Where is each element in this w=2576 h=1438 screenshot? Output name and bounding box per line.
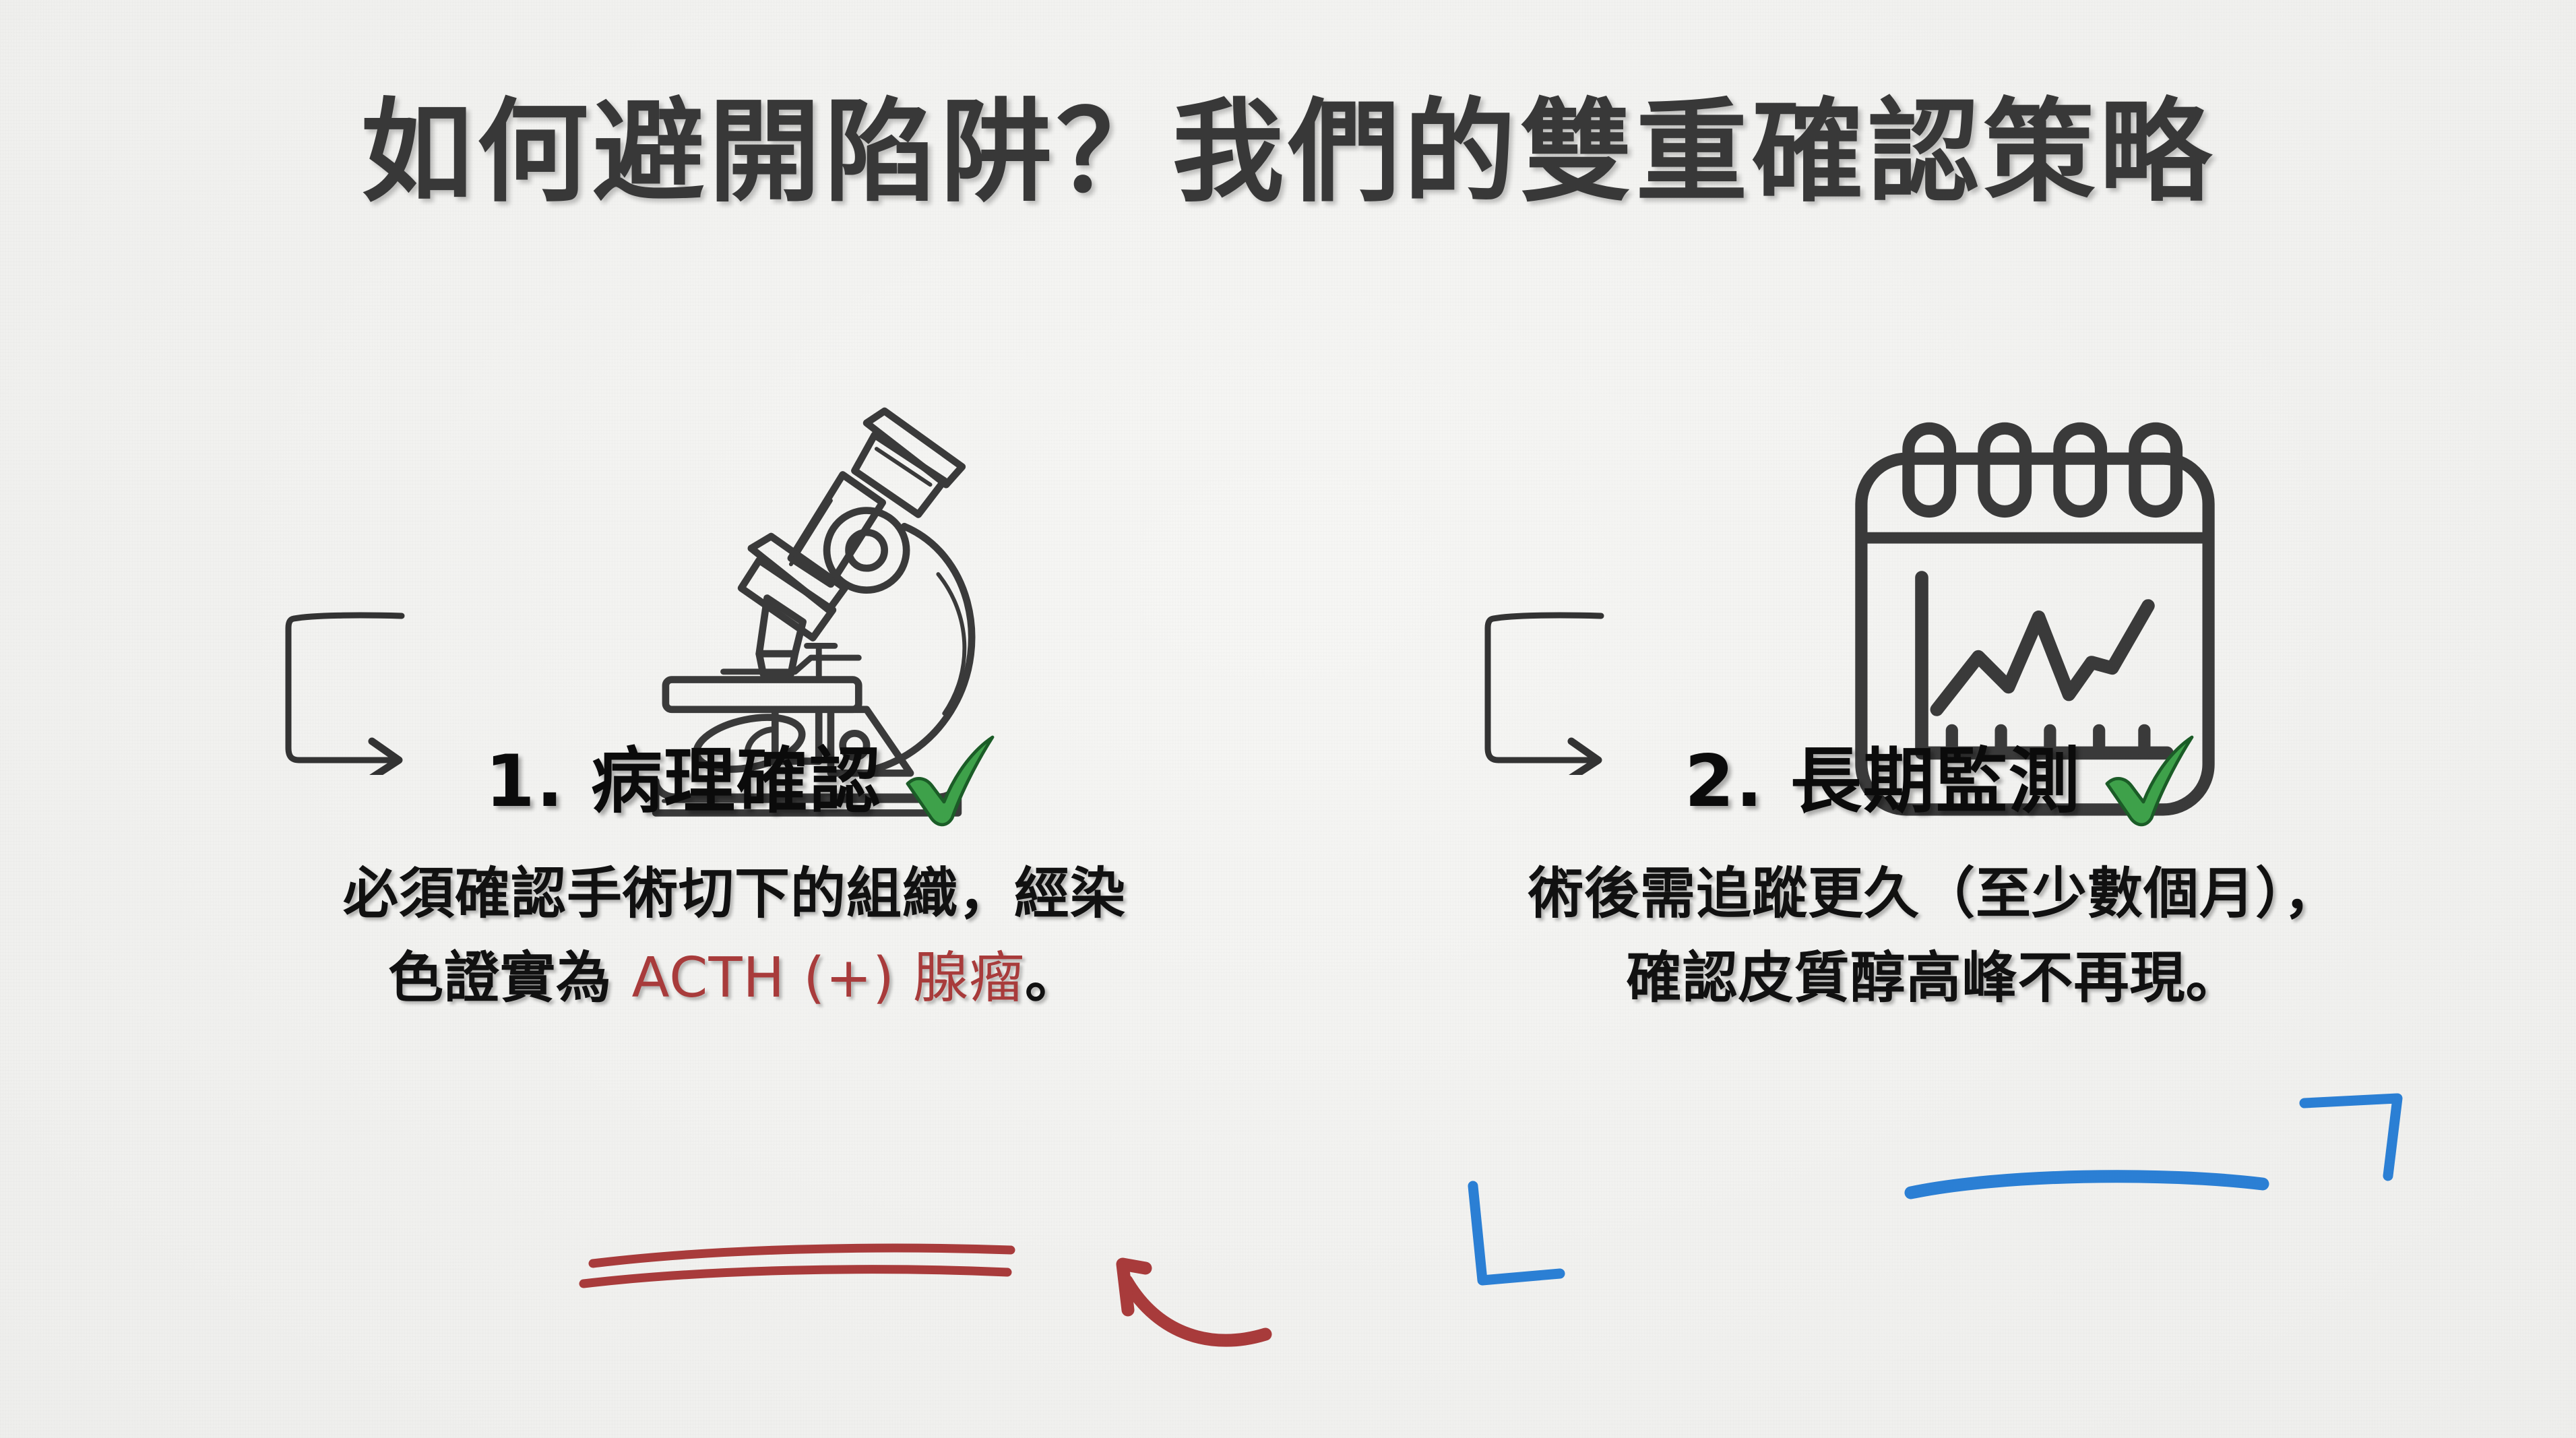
heading-row-pathology: 1. 病理確認 (485, 731, 1001, 832)
body-text-monitoring: 術後需追蹤更久（至少數個月）， 確認皮質醇高峰不再現。 (1361, 852, 2507, 1020)
heading-pathology: 1. 病理確認 (485, 746, 882, 817)
page-title: 如何避開陷阱？我們的雙重確認策略 (0, 86, 2576, 218)
acth-highlight: ACTH (+) 腺瘤 (632, 946, 1025, 1010)
column-monitoring: 2. 長期監測 術後需追蹤更久（至少數個月）， 確認皮質醇高峰不再現。 (1361, 350, 2507, 1361)
elbow-arrow-right (1476, 606, 1698, 775)
heading-row-monitoring: 2. 長期監測 (1685, 731, 2200, 832)
body-line-2-prefix: 色證實為 (388, 946, 632, 1010)
column-pathology: 1. 病理確認 必須確認手術切下的組織，經染 色證實為 ACTH (+) 腺瘤。 (162, 350, 1307, 1361)
green-check-icon (2099, 731, 2200, 832)
body-line-2-suffix: 。 (1025, 946, 1081, 1010)
body-text-pathology: 必須確認手術切下的組織，經染 色證實為 ACTH (+) 腺瘤。 (162, 852, 1307, 1020)
body-line-2: 確認皮質醇高峰不再現。 (1361, 937, 2507, 1021)
heading-monitoring: 2. 長期監測 (1685, 746, 2081, 817)
green-check-icon (900, 731, 1001, 832)
body-line-1: 必須確認手術切下的組織，經染 (162, 852, 1307, 937)
body-line-1: 術後需追蹤更久（至少數個月）， (1361, 852, 2507, 937)
elbow-arrow-left (276, 606, 499, 775)
body-line-2: 色證實為 ACTH (+) 腺瘤。 (162, 937, 1307, 1021)
